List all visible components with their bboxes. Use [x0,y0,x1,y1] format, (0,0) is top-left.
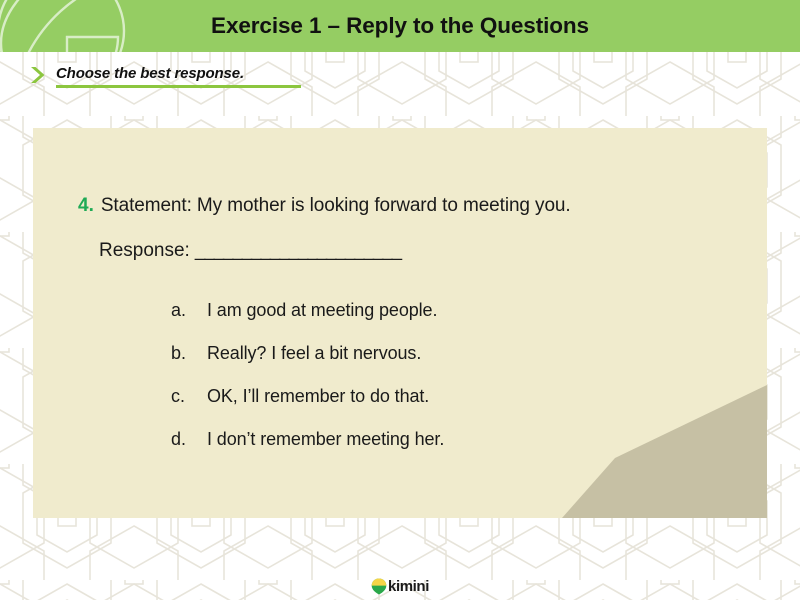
response-blank-field[interactable]: ______________________ [195,240,401,262]
option-text: Really? I feel a bit nervous. [207,343,421,364]
option-letter: b. [171,343,207,364]
option-text: I don’t remember meeting her. [207,429,444,450]
brand-name: kimini [388,578,429,595]
option-row[interactable]: a. I am good at meeting people. [171,300,691,343]
response-label: Response: [99,240,190,262]
option-row[interactable]: b. Really? I feel a bit nervous. [171,343,691,386]
question-statement-row: 4. Statement: My mother is looking forwa… [78,195,571,217]
response-row: Response: ______________________ [99,240,401,262]
option-row[interactable]: d. I don’t remember meeting her. [171,429,691,472]
question-number: 4. [78,195,94,217]
header-bar: Exercise 1 – Reply to the Questions [0,0,800,52]
option-row[interactable]: c. OK, I’ll remember to do that. [171,386,691,429]
question-card: 4. Statement: My mother is looking forwa… [33,128,767,518]
option-letter: d. [171,429,207,450]
card-content: 4. Statement: My mother is looking forwa… [33,128,767,518]
instruction-text-wrap: Choose the best response. [56,65,244,83]
question-statement-text: Statement: My mother is looking forward … [101,195,571,217]
kimini-leaf-icon [371,578,387,595]
option-text: OK, I’ll remember to do that. [207,386,429,407]
instruction-underline [56,85,301,88]
options-list: a. I am good at meeting people. b. Reall… [171,300,691,472]
option-text: I am good at meeting people. [207,300,437,321]
option-letter: a. [171,300,207,321]
footer-brand: kimini [0,574,800,598]
chevron-right-icon [30,66,47,84]
instruction-text: Choose the best response. [56,65,244,82]
page-title: Exercise 1 – Reply to the Questions [0,0,800,52]
slide-canvas: Exercise 1 – Reply to the Questions Choo… [0,0,800,600]
instruction-row: Choose the best response. [30,60,244,88]
option-letter: c. [171,386,207,407]
